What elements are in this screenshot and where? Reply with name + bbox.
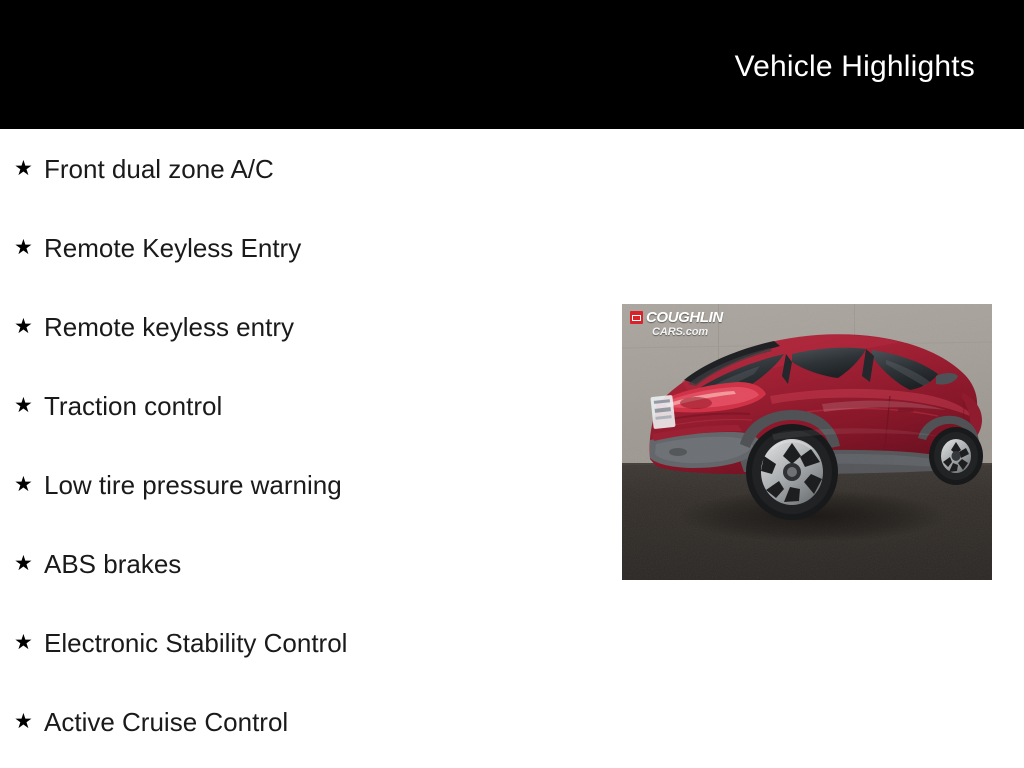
- star-icon: ★: [14, 158, 44, 179]
- list-item-label: Low tire pressure warning: [44, 470, 620, 500]
- star-icon: ★: [14, 316, 44, 337]
- list-item: ★ ABS brakes: [0, 524, 620, 603]
- star-icon: ★: [14, 474, 44, 495]
- list-item: ★ Remote keyless entry: [0, 287, 620, 366]
- list-item: ★ Active Cruise Control: [0, 682, 620, 761]
- star-icon: ★: [14, 395, 44, 416]
- vehicle-photo-image: [622, 304, 992, 580]
- list-item-label: Remote keyless entry: [44, 312, 620, 342]
- vehicle-photo: COUGHLIN CARS.com: [622, 304, 992, 580]
- list-item-label: Electronic Stability Control: [44, 628, 620, 658]
- page-title: Vehicle Highlights: [735, 50, 975, 84]
- list-item-label: Remote Keyless Entry: [44, 233, 620, 263]
- list-item: ★ Traction control: [0, 366, 620, 445]
- vehicle-highlights-list: ★ Front dual zone A/C ★ Remote Keyless E…: [0, 129, 620, 761]
- star-icon: ★: [14, 237, 44, 258]
- list-item: ★ Electronic Stability Control: [0, 603, 620, 682]
- star-icon: ★: [14, 553, 44, 574]
- list-item-label: ABS brakes: [44, 549, 620, 579]
- list-item-label: Traction control: [44, 391, 620, 421]
- star-icon: ★: [14, 711, 44, 732]
- star-icon: ★: [14, 632, 44, 653]
- list-item: ★ Remote Keyless Entry: [0, 208, 620, 287]
- list-item-label: Front dual zone A/C: [44, 154, 620, 184]
- list-item: ★ Front dual zone A/C: [0, 129, 620, 208]
- list-item: ★ Low tire pressure warning: [0, 445, 620, 524]
- header-bar: Vehicle Highlights: [0, 0, 1024, 129]
- list-item-label: Active Cruise Control: [44, 707, 620, 737]
